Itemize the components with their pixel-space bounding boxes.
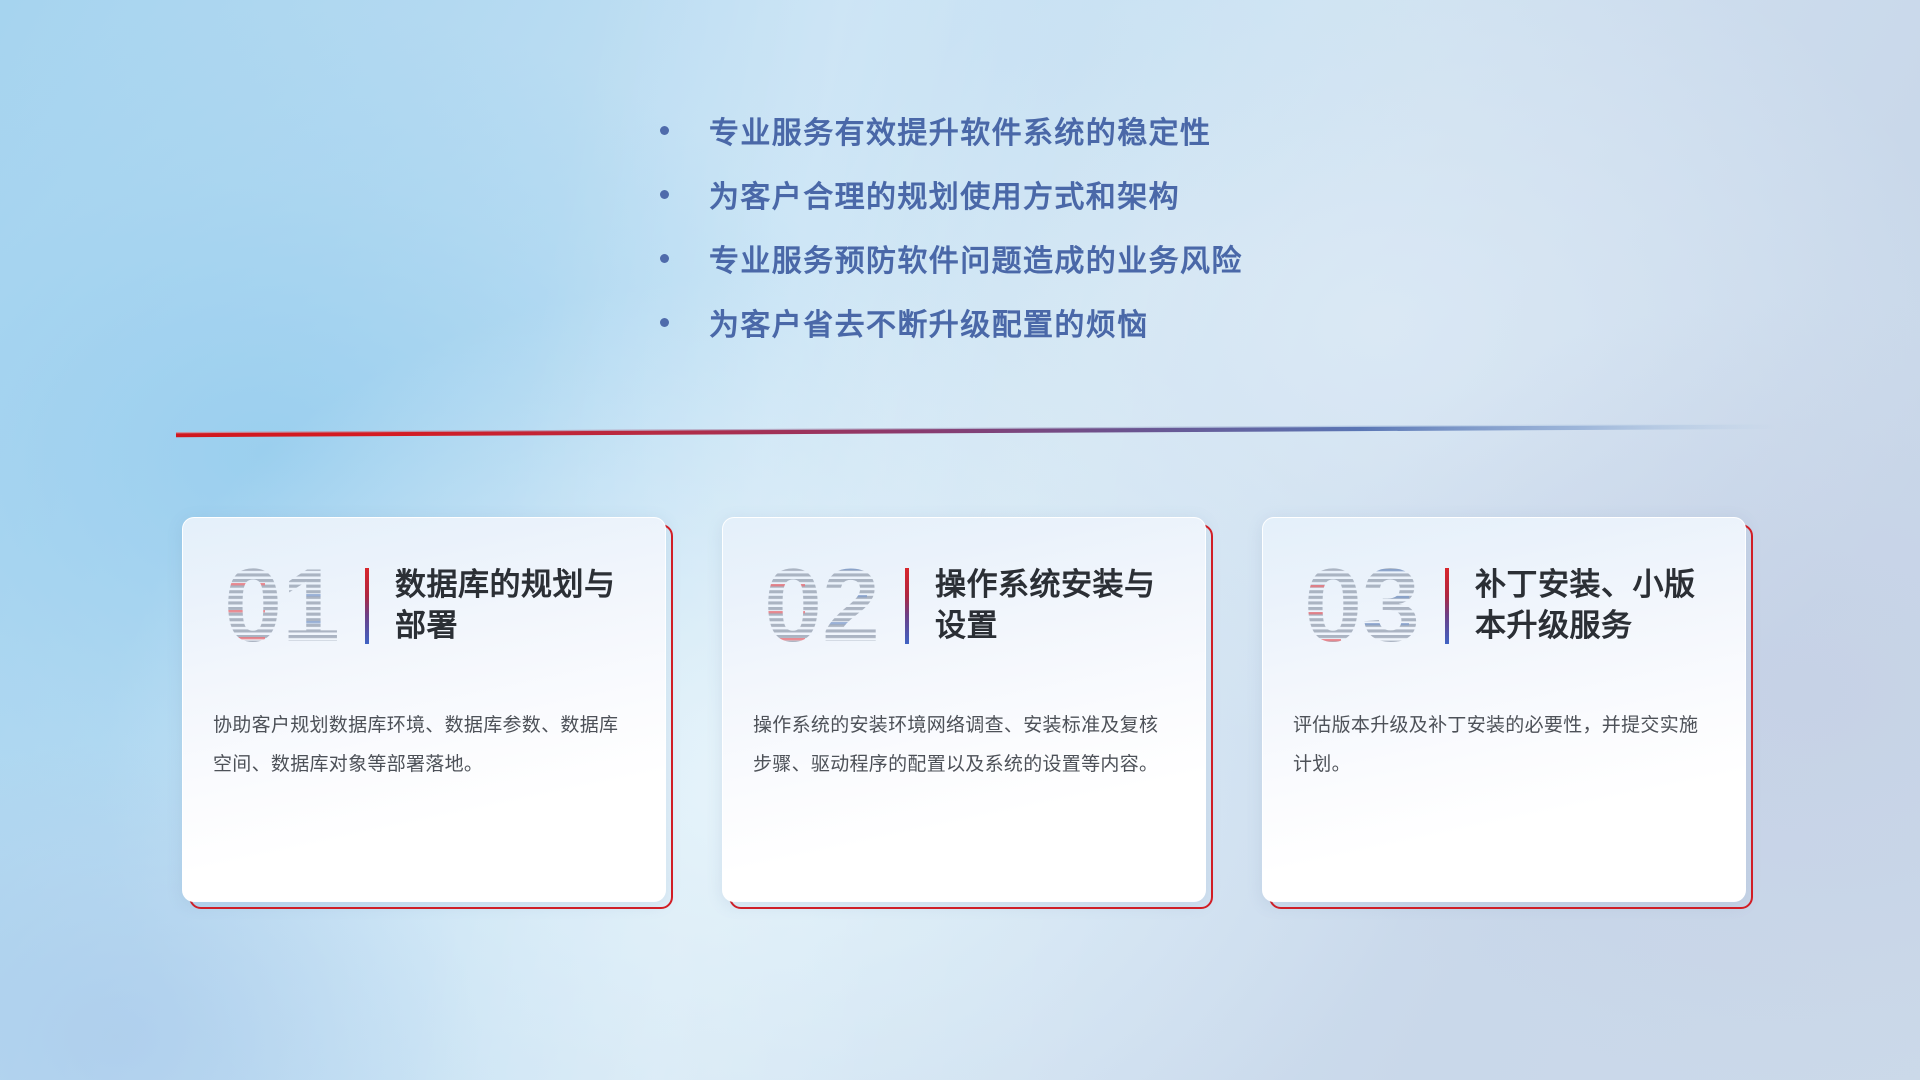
service-card-row: 01 数据库的规划与部署 协助客户规划数据库环境、数据库参数、 — [182, 517, 1782, 907]
benefits-bullet-list: 专业服务有效提升软件系统的稳定性 为客户合理的规划使用方式和架构 专业服务预防软… — [660, 98, 1560, 354]
card-surface: 01 数据库的规划与部署 协助客户规划数据库环境、数据库参数、 — [182, 517, 666, 902]
card-description: 操作系统的安装环境网络调查、安装标准及复核步骤、驱动程序的配置以及系统的设置等内… — [753, 707, 1175, 785]
card-number-graphic: 02 — [749, 551, 895, 661]
card-title: 数据库的规划与部署 — [395, 565, 625, 646]
card-body: 协助客户规划数据库环境、数据库参数、数据库空间、数据库对象等部署落地。 — [183, 693, 665, 785]
slide-canvas: 专业服务有效提升软件系统的稳定性 为客户合理的规划使用方式和架构 专业服务预防软… — [0, 0, 1920, 1080]
striped-number-icon: 02 — [749, 551, 895, 661]
list-item: 专业服务预防软件问题造成的业务风险 — [660, 226, 1560, 290]
card-surface: 02 操作系统安装与设置 操作系统的安装环境网络调查、安装标准 — [722, 517, 1206, 902]
card-body: 操作系统的安装环境网络调查、安装标准及复核步骤、驱动程序的配置以及系统的设置等内… — [723, 693, 1205, 785]
list-item: 为客户省去不断升级配置的烦恼 — [660, 290, 1560, 354]
bullet-label: 专业服务预防软件问题造成的业务风险 — [709, 236, 1243, 280]
bullet-label: 为客户省去不断升级配置的烦恼 — [709, 300, 1149, 344]
bullet-dot-icon — [660, 318, 669, 327]
striped-number-icon: 01 — [209, 551, 355, 661]
card-title: 补丁安装、小版本升级服务 — [1475, 565, 1705, 646]
service-card[interactable]: 03 补丁安装、小版本升级服务 评估版本升级及补丁安装的必要性 — [1262, 517, 1746, 902]
bullet-dot-icon — [660, 254, 669, 263]
bullet-dot-icon — [660, 126, 669, 135]
card-description: 评估版本升级及补丁安装的必要性，并提交实施计划。 — [1293, 707, 1715, 785]
card-header: 03 补丁安装、小版本升级服务 — [1263, 518, 1745, 693]
card-header: 02 操作系统安装与设置 — [723, 518, 1205, 693]
section-divider — [176, 420, 1776, 438]
card-accent-rule — [365, 568, 369, 644]
card-body: 评估版本升级及补丁安装的必要性，并提交实施计划。 — [1263, 693, 1745, 785]
card-title: 操作系统安装与设置 — [935, 565, 1165, 646]
divider-shape-icon — [176, 420, 1776, 438]
service-card[interactable]: 01 数据库的规划与部署 协助客户规划数据库环境、数据库参数、 — [182, 517, 666, 902]
card-accent-rule — [1445, 568, 1449, 644]
bullet-dot-icon — [660, 190, 669, 199]
striped-number-icon: 03 — [1289, 551, 1435, 661]
card-header: 01 数据库的规划与部署 — [183, 518, 665, 693]
list-item: 专业服务有效提升软件系统的稳定性 — [660, 98, 1560, 162]
bullet-label: 为客户合理的规划使用方式和架构 — [709, 172, 1180, 216]
card-accent-rule — [905, 568, 909, 644]
card-surface: 03 补丁安装、小版本升级服务 评估版本升级及补丁安装的必要性 — [1262, 517, 1746, 902]
card-description: 协助客户规划数据库环境、数据库参数、数据库空间、数据库对象等部署落地。 — [213, 707, 635, 785]
list-item: 为客户合理的规划使用方式和架构 — [660, 162, 1560, 226]
service-card[interactable]: 02 操作系统安装与设置 操作系统的安装环境网络调查、安装标准 — [722, 517, 1206, 902]
bullet-label: 专业服务有效提升软件系统的稳定性 — [709, 108, 1211, 152]
card-number-graphic: 01 — [209, 551, 355, 661]
card-number-graphic: 03 — [1289, 551, 1435, 661]
